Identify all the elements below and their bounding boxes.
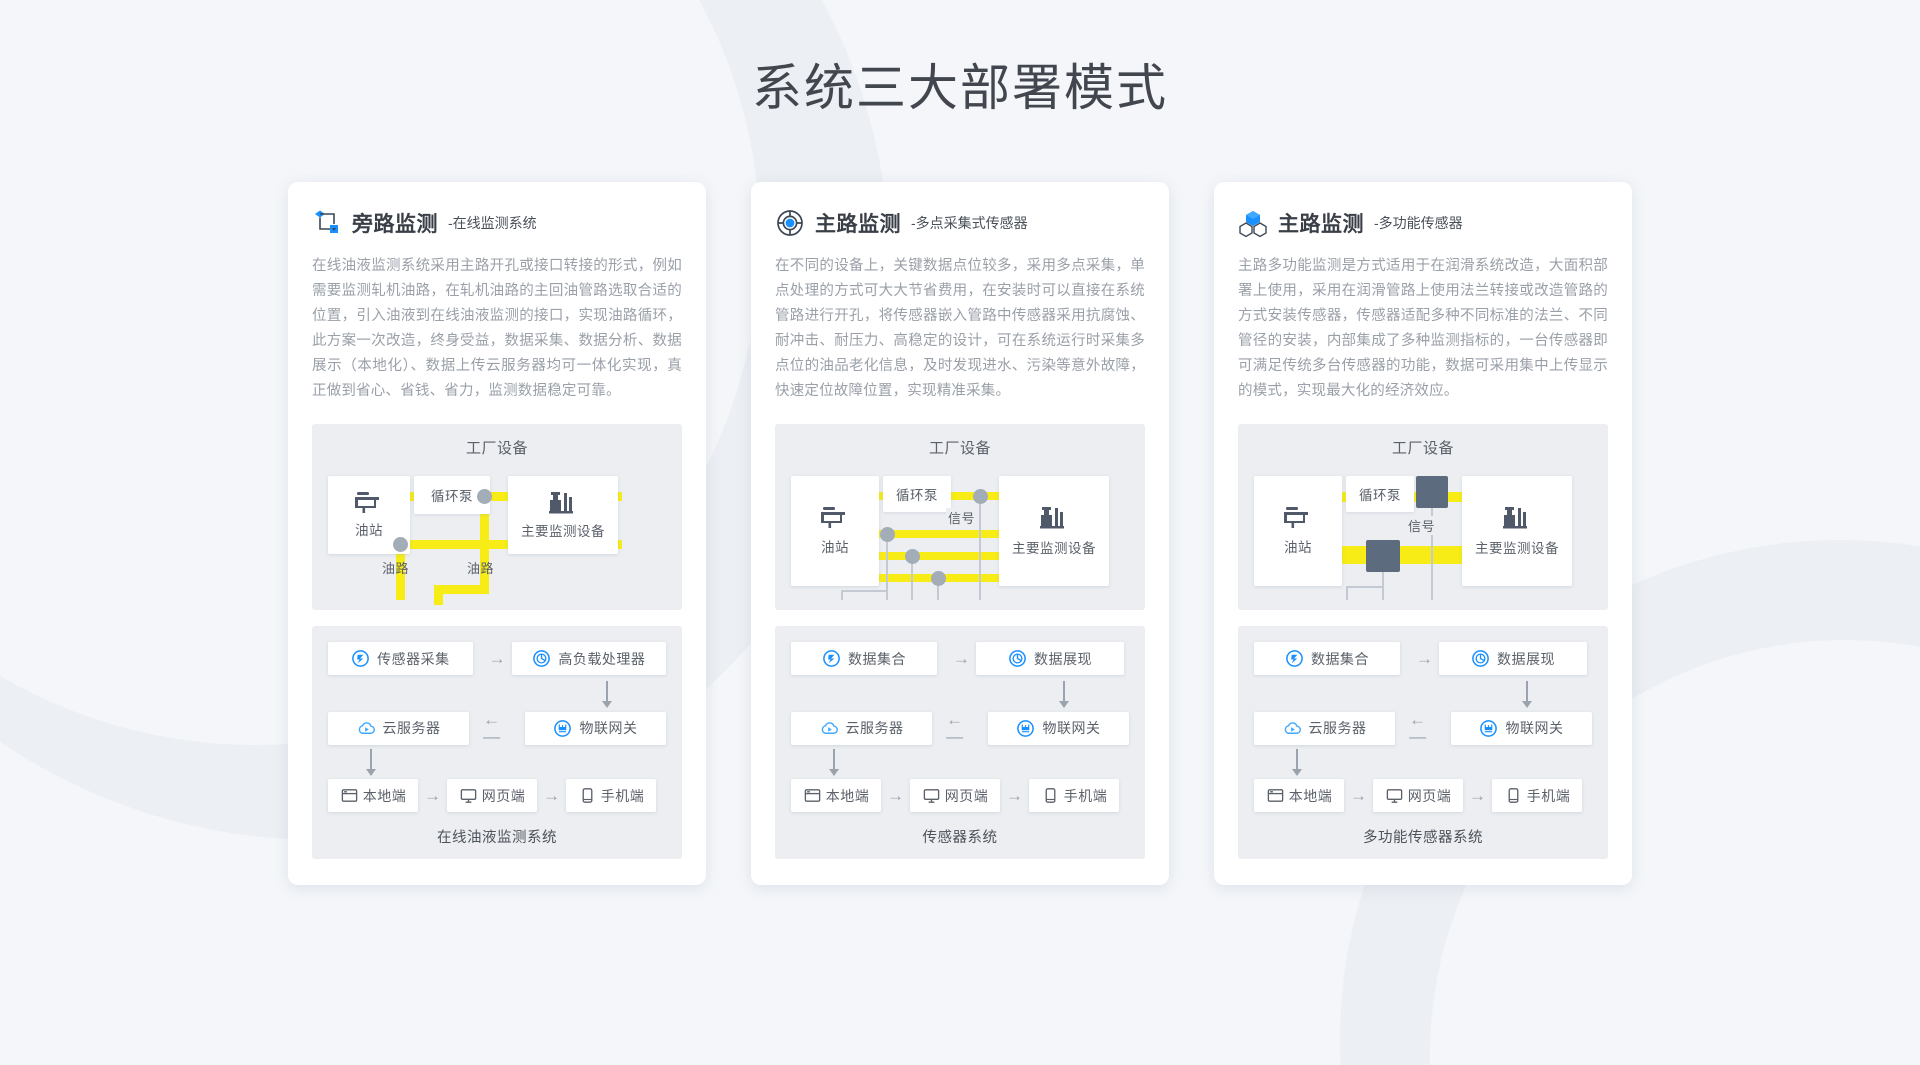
- flow-connector-1: [1254, 691, 1592, 711]
- main-device-label: 主要监测设备: [1475, 537, 1559, 557]
- factory-panel-title: 工厂设备: [328, 437, 666, 458]
- flow-row-3: 本地端 → 网页端 →: [1254, 779, 1592, 812]
- flow-chip-mobile[interactable]: 手机端: [566, 779, 656, 812]
- circulation-pump-label: 循环泵: [431, 485, 473, 505]
- arrow-left-icon: ←—: [469, 711, 525, 745]
- flow-panel: 传感器采集 → 高负载处理器: [312, 626, 682, 859]
- flow-chip-web[interactable]: 网页端: [1373, 779, 1463, 812]
- oil-station-box: 油站: [1254, 476, 1342, 586]
- flow-panel: 数据集合 → 数据展现: [1238, 626, 1608, 859]
- card-header: 主路监测 -多功能传感器: [1238, 208, 1608, 238]
- arrow-left-icon: ←—: [1395, 711, 1451, 745]
- flow-chip-web[interactable]: 网页端: [447, 779, 537, 812]
- factory-panel: 工厂设备 油站: [775, 424, 1145, 610]
- flow-chip-label: 云服务器: [846, 718, 904, 738]
- card-subtitle: -多功能传感器: [1374, 213, 1463, 233]
- card-description: 在不同的设备上，关键数据点位较多，采用多点采集，单点处理的方式可大大节省费用，在…: [775, 254, 1145, 404]
- phone-icon: [578, 786, 597, 805]
- factory-panel-title: 工厂设备: [791, 437, 1129, 458]
- arrow-right-icon: →: [937, 650, 976, 667]
- arrow-right-icon: →: [1000, 787, 1029, 804]
- flow-row-2: 云服务器 ←— 物联网关: [1254, 711, 1592, 745]
- card-title: 旁路监测: [352, 208, 438, 238]
- oil-station-label: 油站: [821, 536, 849, 556]
- flow-connector-2: [1254, 761, 1592, 779]
- signal-line-5b: [841, 590, 888, 592]
- cloud-server-icon: [820, 719, 839, 738]
- flow-chip-cloud[interactable]: 云服务器: [328, 712, 469, 745]
- sensor-node-2: [905, 549, 920, 564]
- flow-chip-local[interactable]: 本地端: [791, 779, 881, 812]
- flow-chip-label: 网页端: [945, 786, 989, 806]
- page-root: 系统三大部署模式 旁路监测 -在线监测系统 在线油液监测系统采用主路开孔或接口转…: [0, 0, 1920, 1065]
- oil-tank-icon: [354, 491, 384, 515]
- flow-row-3: 本地端 → 网页端 →: [791, 779, 1129, 812]
- flow-chip-label: 数据展现: [1497, 649, 1555, 669]
- flow-row-3: 本地端 → 网页端 →: [328, 779, 666, 812]
- card-description: 主路多功能监测是方式适用于在润滑系统改造，大面积部署上使用，采用在润滑管路上使用…: [1238, 254, 1608, 404]
- iot-gateway-icon: [553, 719, 572, 738]
- flow-chip-label: 手机端: [601, 786, 645, 806]
- flow-chip-data-display[interactable]: 数据展现: [1439, 642, 1587, 675]
- circulation-pump-box: 循环泵: [883, 476, 951, 512]
- oil-station-box: 油站: [791, 476, 879, 586]
- sensor-collect-icon: [822, 649, 841, 668]
- local-window-icon: [1266, 786, 1285, 805]
- pipe-drop: [434, 585, 443, 605]
- flow-connector-2: [791, 761, 1129, 779]
- flow-chip-processor[interactable]: 高负载处理器: [512, 642, 666, 675]
- flow-chip-data-aggregate[interactable]: 数据集合: [1254, 642, 1400, 675]
- signal-line-3: [1346, 586, 1348, 600]
- flow-caption: 传感器系统: [791, 816, 1129, 847]
- flow-chip-label: 数据展现: [1034, 649, 1092, 669]
- flow-row-1: 传感器采集 → 高负载处理器: [328, 642, 666, 675]
- main-device-box: 主要监测设备: [508, 476, 618, 554]
- arrow-right-icon: →: [881, 787, 910, 804]
- flow-chip-web[interactable]: 网页端: [910, 779, 1000, 812]
- flow-branch-icon: [312, 208, 342, 238]
- circulation-pump-box: 循环泵: [1346, 476, 1414, 512]
- local-window-icon: [803, 786, 822, 805]
- sensor-node-4: [973, 489, 988, 504]
- flow-chip-label: 手机端: [1064, 786, 1108, 806]
- cubes-icon: [1238, 208, 1268, 238]
- cloud-server-icon: [357, 719, 376, 738]
- processor-icon: [532, 649, 551, 668]
- card-subtitle: -在线监测系统: [448, 213, 537, 233]
- flow-chip-label: 本地端: [1289, 786, 1333, 806]
- circulation-pump-label: 循环泵: [896, 484, 938, 504]
- arrow-right-icon: →: [473, 650, 512, 667]
- flow-chip-cloud[interactable]: 云服务器: [1254, 712, 1395, 745]
- sensor-collect-icon: [351, 649, 370, 668]
- signal-label: 信号: [946, 508, 977, 527]
- oil-line-label-right: 油路: [467, 558, 494, 577]
- oil-tank-icon: [1283, 506, 1313, 530]
- factory-panel: 工厂设备 油站 循环泵: [1238, 424, 1608, 610]
- flow-chip-data-aggregate[interactable]: 数据集合: [791, 642, 937, 675]
- flow-row-2: 云服务器 ←— 物联网关: [328, 711, 666, 745]
- flow-chip-gateway[interactable]: 物联网关: [525, 712, 666, 745]
- flow-chip-label: 传感器采集: [377, 649, 450, 669]
- arrow-right-icon: →: [418, 787, 447, 804]
- signal-label: 信号: [1406, 516, 1437, 535]
- sensor-node-1: [880, 527, 895, 542]
- card-subtitle: -多点采集式传感器: [911, 213, 1028, 233]
- factory-panel: 工厂设备: [312, 424, 682, 610]
- flow-chip-label: 本地端: [363, 786, 407, 806]
- processor-icon: [1471, 649, 1490, 668]
- flow-chip-label: 云服务器: [1309, 718, 1367, 738]
- main-device-label: 主要监测设备: [521, 520, 605, 540]
- multifunction-sensor-1: [1416, 476, 1448, 508]
- phone-icon: [1041, 786, 1060, 805]
- arrow-right-icon: →: [1400, 650, 1439, 667]
- arrow-right-icon: →: [1463, 787, 1492, 804]
- flow-chip-label: 数据集合: [1311, 649, 1369, 669]
- flow-chip-label: 网页端: [1408, 786, 1452, 806]
- flow-chip-label: 本地端: [826, 786, 870, 806]
- page-title: 系统三大部署模式: [0, 0, 1920, 118]
- local-window-icon: [340, 786, 359, 805]
- factory-diagram: 油站 循环泵 主要监测设备: [1254, 468, 1592, 600]
- flow-connector-1: [791, 691, 1129, 711]
- monitor-icon: [922, 786, 941, 805]
- signal-line-3b: [1346, 586, 1384, 588]
- cards-container: 旁路监测 -在线监测系统 在线油液监测系统采用主路开孔或接口转接的形式，例如需要…: [0, 182, 1920, 885]
- flow-chip-cloud[interactable]: 云服务器: [791, 712, 932, 745]
- flow-chip-data-display[interactable]: 数据展现: [976, 642, 1124, 675]
- factory-panel-title: 工厂设备: [1254, 437, 1592, 458]
- flow-chip-label: 物联网关: [579, 718, 637, 738]
- card-mainline-multipoint[interactable]: 主路监测 -多点采集式传感器 在不同的设备上，关键数据点位较多，采用多点采集，单…: [751, 182, 1169, 885]
- industrial-machine-icon: [1502, 505, 1532, 531]
- flow-chip-local[interactable]: 本地端: [328, 779, 418, 812]
- card-mainline-multifunction[interactable]: 主路监测 -多功能传感器 主路多功能监测是方式适用于在润滑系统改造，大面积部署上…: [1214, 182, 1632, 885]
- multifunction-sensor-2: [1366, 540, 1400, 572]
- flow-connector-2: [328, 761, 666, 779]
- circulation-pump-label: 循环泵: [1359, 484, 1401, 504]
- pipe-node-top: [477, 489, 492, 504]
- card-header: 主路监测 -多点采集式传感器: [775, 208, 1145, 238]
- processor-icon: [1008, 649, 1027, 668]
- arrow-right-icon: →: [1344, 787, 1373, 804]
- monitor-icon: [1385, 786, 1404, 805]
- card-title: 主路监测: [1278, 208, 1364, 238]
- flow-connector-1: [328, 691, 666, 711]
- flow-row-2: 云服务器 ←— 物联网关: [791, 711, 1129, 745]
- card-bypass-monitoring[interactable]: 旁路监测 -在线监测系统 在线油液监测系统采用主路开孔或接口转接的形式，例如需要…: [288, 182, 706, 885]
- main-device-box: 主要监测设备: [999, 476, 1109, 586]
- card-description: 在线油液监测系统采用主路开孔或接口转接的形式，例如需要监测轧机油路，在轧机油路的…: [312, 254, 682, 404]
- industrial-machine-icon: [1039, 505, 1069, 531]
- flow-row-1: 数据集合 → 数据展现: [791, 642, 1129, 675]
- arrow-left-icon: ←—: [932, 711, 988, 745]
- flow-chip-gateway[interactable]: 物联网关: [988, 712, 1129, 745]
- iot-gateway-icon: [1479, 719, 1498, 738]
- flow-chip-label: 手机端: [1527, 786, 1571, 806]
- flow-row-1: 数据集合 → 数据展现: [1254, 642, 1592, 675]
- flow-chip-local[interactable]: 本地端: [1254, 779, 1344, 812]
- flow-chip-label: 数据集合: [848, 649, 906, 669]
- iot-gateway-icon: [1016, 719, 1035, 738]
- oil-station-label: 油站: [355, 519, 383, 539]
- flow-chip-label: 网页端: [482, 786, 526, 806]
- arrow-right-icon: →: [537, 787, 566, 804]
- main-device-label: 主要监测设备: [1012, 537, 1096, 557]
- flow-panel: 数据集合 → 数据展现: [775, 626, 1145, 859]
- industrial-machine-icon: [548, 490, 578, 516]
- sensor-collect-icon: [1285, 649, 1304, 668]
- flow-chip-sensor[interactable]: 传感器采集: [328, 642, 473, 675]
- signal-line-4: [979, 496, 981, 600]
- flow-chip-label: 物联网关: [1505, 718, 1563, 738]
- card-header: 旁路监测 -在线监测系统: [312, 208, 682, 238]
- factory-diagram: 油站 循环泵 主要监测设备: [791, 468, 1129, 600]
- oil-station-label: 油站: [1284, 536, 1312, 556]
- flow-chip-label: 物联网关: [1042, 718, 1100, 738]
- flow-chip-gateway[interactable]: 物联网关: [1451, 712, 1592, 745]
- flow-chip-mobile[interactable]: 手机端: [1029, 779, 1119, 812]
- sensor-node-3: [931, 571, 946, 586]
- monitor-icon: [459, 786, 478, 805]
- oil-line-label-left: 油路: [382, 558, 409, 577]
- cloud-server-icon: [1283, 719, 1302, 738]
- lifebuoy-icon: [775, 208, 805, 238]
- flow-chip-label: 高负载处理器: [558, 649, 645, 669]
- card-title: 主路监测: [815, 208, 901, 238]
- factory-diagram: 油站 循环泵 主要监测设备: [328, 468, 666, 600]
- oil-tank-icon: [820, 506, 850, 530]
- pipe-node-left: [393, 537, 408, 552]
- flow-chip-mobile[interactable]: 手机端: [1492, 779, 1582, 812]
- phone-icon: [1504, 786, 1523, 805]
- main-device-box: 主要监测设备: [1462, 476, 1572, 586]
- flow-caption: 在线油液监测系统: [328, 816, 666, 847]
- flow-chip-label: 云服务器: [383, 718, 441, 738]
- flow-caption: 多功能传感器系统: [1254, 816, 1592, 847]
